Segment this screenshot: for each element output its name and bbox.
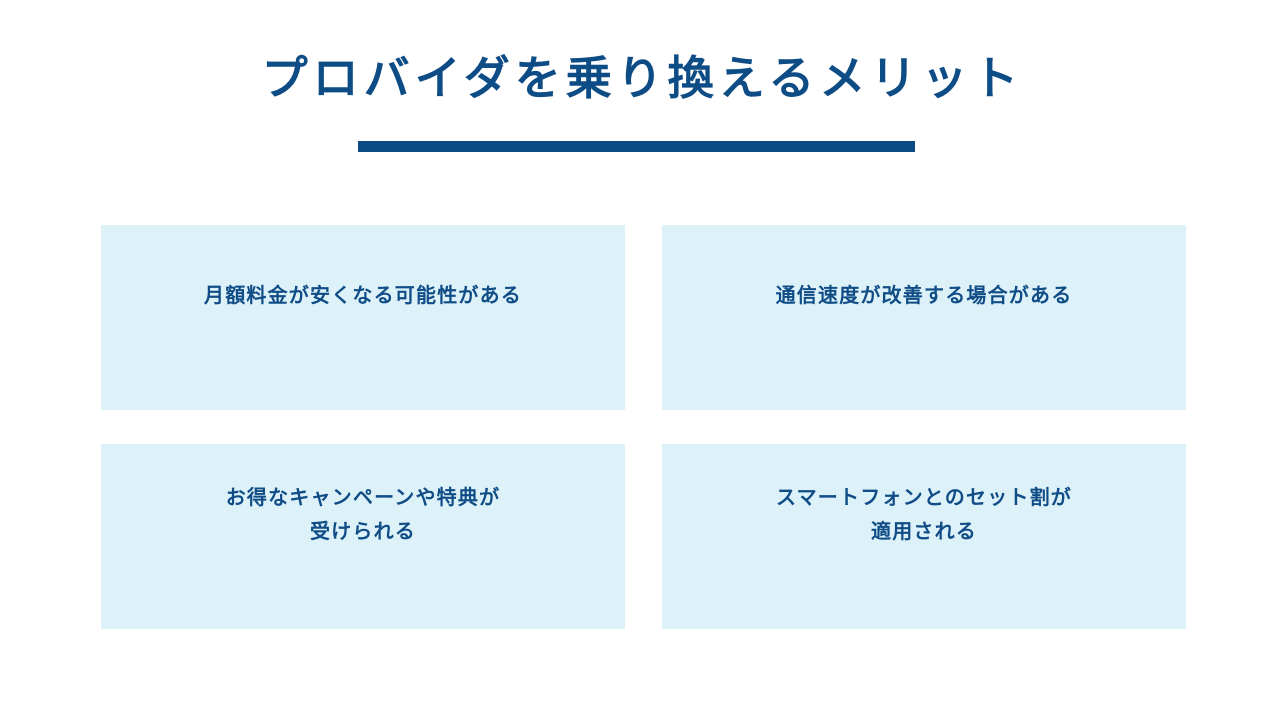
benefit-card-1: 月額料金が安くなる可能性がある bbox=[101, 225, 625, 410]
benefit-card-grid: 月額料金が安くなる可能性がある 通信速度が改善する場合がある お得なキャンペーン… bbox=[101, 225, 1186, 629]
benefit-card-3: お得なキャンペーンや特典が 受けられる bbox=[101, 444, 625, 629]
benefit-card-2: 通信速度が改善する場合がある bbox=[662, 225, 1186, 410]
slide-canvas: プロバイダを乗り換えるメリット 月額料金が安くなる可能性がある 通信速度が改善す… bbox=[0, 0, 1280, 720]
title-block: プロバイダを乗り換えるメリット bbox=[0, 52, 1280, 105]
benefit-card-2-label: 通信速度が改善する場合がある bbox=[776, 279, 1073, 313]
benefit-card-4-label: スマートフォンとのセット割が 適用される bbox=[776, 481, 1072, 549]
benefit-card-1-label: 月額料金が安くなる可能性がある bbox=[204, 279, 522, 313]
title-underline-bar bbox=[358, 141, 915, 152]
page-title: プロバイダを乗り換えるメリット bbox=[0, 52, 1280, 105]
benefit-card-4: スマートフォンとのセット割が 適用される bbox=[662, 444, 1186, 629]
benefit-card-3-label: お得なキャンペーンや特典が 受けられる bbox=[226, 481, 501, 549]
